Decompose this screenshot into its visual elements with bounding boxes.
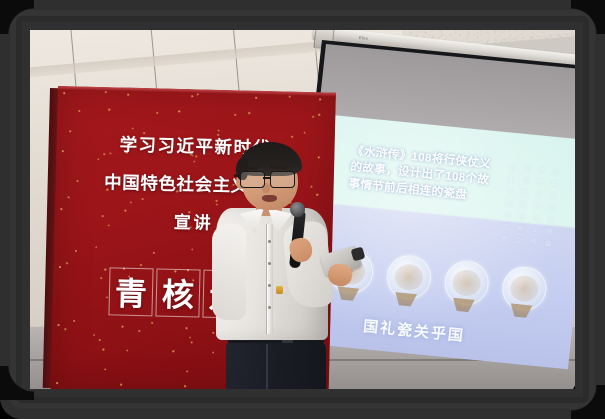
vtext: 伸 — [534, 201, 542, 214]
frame-corner-bottom-right — [571, 385, 605, 419]
vertical-text-column: 节 侠 长 伸 忠 义 气 — [530, 165, 546, 249]
ceramic-plate — [384, 253, 433, 309]
ceramic-plate — [499, 265, 548, 321]
vertical-text-column: 国 羽 博 风 任 所 之 — [515, 164, 531, 248]
shirt-button — [268, 284, 271, 287]
vtext: 师 — [548, 203, 556, 216]
slide-vertical-text-columns: 时 重 世 乱 己 忘 危 国 羽 博 风 任 所 之 — [501, 163, 560, 251]
vtext: 世 — [506, 186, 514, 199]
vtext: 义 — [531, 225, 539, 238]
shirt-button — [268, 306, 271, 309]
vtext: 忠 — [552, 167, 560, 180]
vtext: 博 — [520, 188, 528, 201]
vtext: 我 — [545, 227, 553, 240]
speaker-mouth — [262, 195, 277, 202]
plate-stand — [450, 297, 477, 312]
speaker-left-arm — [212, 224, 246, 320]
plate-artwork — [509, 274, 540, 303]
vtext: 长 — [535, 189, 543, 202]
vtext: 时 — [509, 163, 517, 176]
vtext: 气 — [530, 237, 538, 250]
shirt-button — [268, 240, 271, 243]
glasses-temple — [234, 174, 241, 177]
eyeglasses-icon — [238, 171, 300, 186]
plate-artwork — [394, 263, 425, 292]
vtext: 所 — [516, 224, 524, 237]
vtext: 忘 — [502, 222, 510, 235]
glasses-lens-left — [240, 171, 265, 188]
plate-stand — [392, 292, 419, 307]
lapel-badge — [276, 286, 283, 294]
vtext: 盛 — [544, 238, 552, 251]
vtext: 节 — [537, 165, 545, 178]
ceramic-plate — [441, 259, 490, 315]
shirt-button — [268, 262, 271, 265]
vtext: 忠 — [532, 213, 540, 226]
calligraphy-cell: 青 — [108, 267, 153, 316]
vtext: 高 — [549, 191, 557, 204]
plate-stand — [507, 303, 534, 318]
vtext: 己 — [503, 210, 511, 223]
glasses-bridge — [263, 177, 271, 179]
vtext: 任 — [518, 212, 526, 225]
photo-frame-container: Elite 《水浒传》108将行侠仗义的故事，设计出了108个故事情节前后相连的… — [0, 0, 605, 419]
frame-corner-top-right — [571, 0, 605, 34]
speaker-figure — [210, 138, 370, 397]
speaker-trousers — [226, 341, 326, 397]
vtext: 侠 — [536, 177, 544, 190]
vtext: 羽 — [522, 176, 530, 189]
photograph: Elite 《水浒传》108将行侠仗义的故事，设计出了108个故事情节前后相连的… — [14, 10, 576, 397]
vtext: 越 — [551, 179, 559, 192]
plate-artwork — [451, 269, 482, 298]
vtext: 重 — [507, 175, 515, 188]
vtext: 虞 — [547, 215, 555, 228]
vtext: 乱 — [505, 198, 513, 211]
calligraphy-cell: 核 — [155, 268, 200, 317]
trouser-crease — [266, 344, 268, 397]
vtext: 风 — [519, 200, 527, 213]
screen-brand-label: Elite — [359, 35, 369, 41]
vtext: 危 — [501, 234, 509, 247]
clicker-dark-end — [351, 247, 366, 262]
vtext: 国 — [523, 164, 531, 177]
glasses-lens-right — [270, 171, 295, 188]
vtext: 之 — [515, 236, 523, 249]
